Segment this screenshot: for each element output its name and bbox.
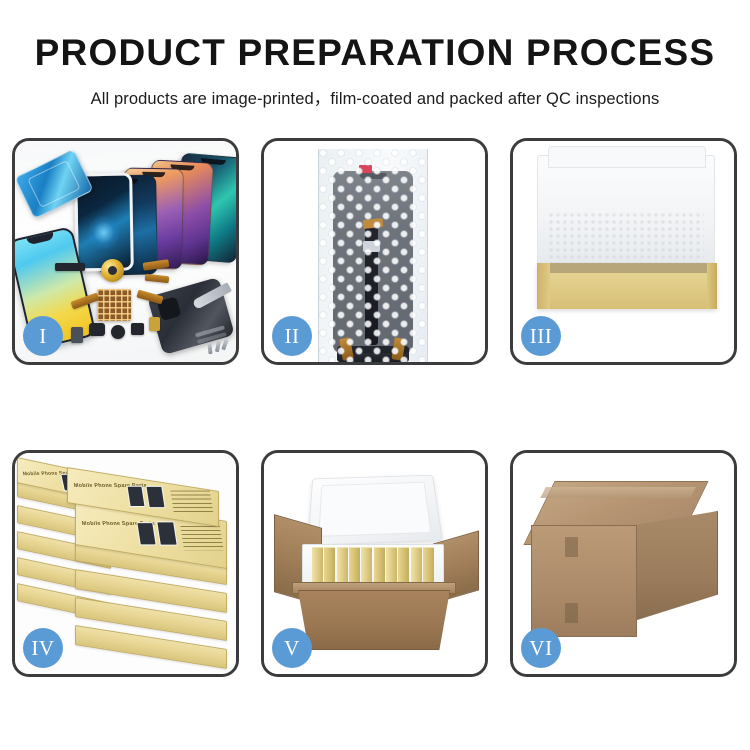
- step-badge-1: I: [23, 316, 63, 356]
- battery-connector-icon: [71, 327, 83, 343]
- white-foam-lid-icon: [537, 155, 715, 269]
- process-step-panel-3[interactable]: III: [510, 138, 737, 365]
- gold-box-edge-icon: [337, 547, 348, 584]
- carton-front-panel-icon: [531, 525, 637, 637]
- chip-array-icon: [97, 289, 131, 321]
- spare-part-icon: [149, 317, 160, 331]
- gold-box-edge-icon: [374, 547, 385, 584]
- gold-box-edge-icon: [312, 547, 323, 584]
- page-title: PRODUCT PREPARATION PROCESS: [0, 34, 750, 73]
- box-product-photo-icon: [145, 486, 165, 508]
- box-product-photo-icon: [156, 521, 178, 545]
- process-step-panel-1[interactable]: I: [12, 138, 239, 365]
- foam-texture-icon: [548, 212, 704, 270]
- step-badge-3: III: [521, 316, 561, 356]
- gold-box-edge-icon: [423, 547, 434, 584]
- spare-part-icon: [89, 323, 105, 336]
- box-spec-text-icon: [180, 526, 223, 550]
- step-badge-6: VI: [521, 628, 561, 668]
- process-step-panel-5[interactable]: V: [261, 450, 488, 677]
- packed-gold-boxes-icon: [312, 548, 434, 584]
- page-header: PRODUCT PREPARATION PROCESS All products…: [0, 0, 750, 109]
- gold-box-edge-icon: [386, 547, 397, 584]
- coil-component-icon: [101, 259, 124, 282]
- step-badge-4: IV: [23, 628, 63, 668]
- gold-box-edge-icon: [398, 547, 409, 584]
- camera-module-icon: [111, 325, 125, 339]
- page-subtitle: All products are image-printed，film-coat…: [0, 85, 750, 109]
- gold-box-edge-icon: [361, 547, 372, 584]
- bubble-wrap-bag-icon: [318, 149, 428, 362]
- gold-box-edge-icon: [411, 547, 422, 584]
- tray-inner-shadow-icon: [550, 263, 707, 273]
- process-step-panel-4[interactable]: Mobile Phone Spare Parts Mobile Phone Sp…: [12, 450, 239, 677]
- process-step-grid: I II: [12, 138, 738, 677]
- packing-tape-icon: [540, 487, 695, 498]
- phone-notch-icon: [27, 232, 55, 245]
- box-product-photo-icon: [136, 522, 156, 545]
- spare-part-icon: [131, 323, 144, 335]
- box-spec-text-icon: [170, 491, 213, 515]
- box-product-photo-icon: [126, 486, 145, 507]
- carton-seam-icon: [565, 537, 578, 557]
- foam-cooler-lid-icon: [307, 475, 443, 546]
- step-badge-2: II: [272, 316, 312, 356]
- process-step-panel-2[interactable]: II: [261, 138, 488, 365]
- gold-box-tray-icon: [537, 263, 717, 309]
- gold-box-edge-icon: [349, 547, 360, 584]
- process-step-panel-6[interactable]: VI: [510, 450, 737, 677]
- bubble-texture-icon: [319, 149, 427, 362]
- spare-part-icon: [55, 263, 85, 271]
- carton-seam-icon: [565, 603, 578, 623]
- carton-front-panel-icon: [298, 590, 450, 650]
- gold-box-edge-icon: [324, 547, 335, 584]
- step-badge-5: V: [272, 628, 312, 668]
